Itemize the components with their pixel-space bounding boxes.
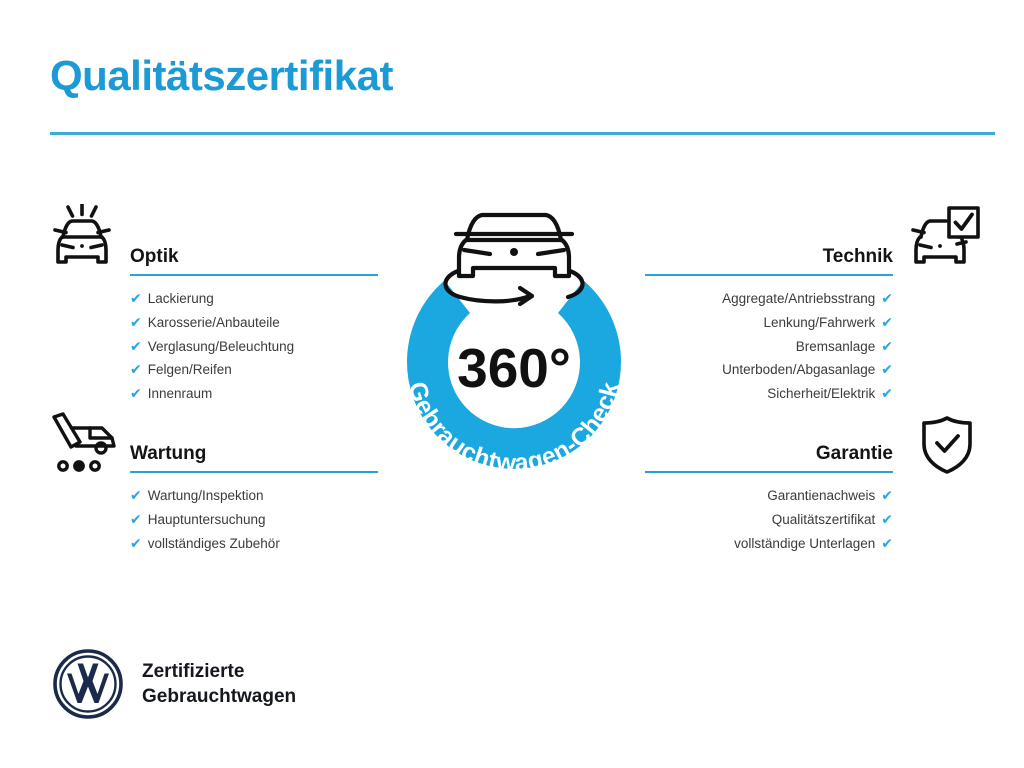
- check-icon: ✔: [130, 314, 142, 330]
- section-wartung-title: Wartung: [130, 443, 206, 465]
- list-item-label: Verglasung/Beleuchtung: [148, 339, 294, 354]
- check-icon: ✔: [130, 511, 142, 527]
- section-technik-title: Technik: [823, 246, 893, 268]
- section-optik-title: Optik: [130, 246, 179, 268]
- list-item: Lenkung/Fahrwerk✔: [645, 311, 893, 335]
- list-item-label: Hauptuntersuchung: [148, 512, 266, 527]
- certificate-page: Qualitätszertifikat Optik ✔Lack: [0, 0, 1024, 768]
- check-icon: ✔: [130, 385, 142, 401]
- list-item: Qualitätszertifikat✔: [645, 508, 893, 532]
- car-checkbox-icon: [908, 204, 982, 270]
- section-optik: Optik ✔Lackierung ✔Karosserie/Anbauteile…: [130, 232, 378, 406]
- list-item-label: vollständige Unterlagen: [734, 536, 875, 551]
- list-item: Sicherheit/Elektrik✔: [645, 382, 893, 406]
- section-optik-list: ✔Lackierung ✔Karosserie/Anbauteile ✔Verg…: [130, 287, 378, 406]
- section-technik-header: Technik: [645, 232, 893, 276]
- section-garantie-title: Garantie: [816, 443, 893, 465]
- check-icon: ✔: [881, 290, 893, 306]
- check-icon: ✔: [130, 487, 142, 503]
- check-icon: ✔: [881, 511, 893, 527]
- badge-360-gebrauchtwagen-check: Gebrauchtwagen-Check 360°: [372, 192, 656, 492]
- car-rotate-360-icon: [445, 215, 582, 304]
- header-divider: [50, 132, 995, 135]
- section-technik: Technik Aggregate/Antriebsstrang✔ Lenkun…: [645, 232, 893, 406]
- list-item-label: Lackierung: [148, 291, 214, 306]
- footer-line-1: Zertifizierte: [142, 659, 296, 684]
- list-item: Unterboden/Abgasanlage✔: [645, 358, 893, 382]
- list-item-label: Innenraum: [148, 386, 213, 401]
- list-item-label: Bremsanlage: [796, 339, 876, 354]
- check-icon: ✔: [881, 487, 893, 503]
- badge-center-label: 360°: [457, 337, 571, 399]
- check-icon: ✔: [130, 361, 142, 377]
- section-optik-underline: [130, 274, 378, 276]
- section-technik-list: Aggregate/Antriebsstrang✔ Lenkung/Fahrwe…: [645, 287, 893, 406]
- list-item-label: Aggregate/Antriebsstrang: [722, 291, 875, 306]
- list-item: ✔Karosserie/Anbauteile: [130, 311, 378, 335]
- list-item: vollständige Unterlagen✔: [645, 532, 893, 556]
- check-icon: ✔: [130, 290, 142, 306]
- list-item-label: Sicherheit/Elektrik: [767, 386, 875, 401]
- shield-check-icon: [916, 414, 978, 476]
- list-item: Bremsanlage✔: [645, 335, 893, 359]
- check-icon: ✔: [130, 338, 142, 354]
- list-item: ✔Felgen/Reifen: [130, 358, 378, 382]
- section-garantie: Garantie Garantienachweis✔ Qualitätszert…: [645, 429, 893, 555]
- section-garantie-underline: [645, 471, 893, 473]
- list-item-label: Lenkung/Fahrwerk: [763, 315, 875, 330]
- section-optik-header: Optik: [130, 232, 378, 276]
- check-icon: ✔: [130, 535, 142, 551]
- list-item-label: Wartung/Inspektion: [148, 488, 264, 503]
- list-item: ✔Verglasung/Beleuchtung: [130, 335, 378, 359]
- check-icon: ✔: [881, 338, 893, 354]
- section-wartung: Wartung ✔Wartung/Inspektion ✔Hauptunters…: [130, 429, 378, 555]
- list-item-label: Unterboden/Abgasanlage: [722, 362, 875, 377]
- list-item: ✔Wartung/Inspektion: [130, 484, 378, 508]
- check-icon: ✔: [881, 535, 893, 551]
- list-item: Garantienachweis✔: [645, 484, 893, 508]
- check-icon: ✔: [881, 314, 893, 330]
- list-item: ✔Hauptuntersuchung: [130, 508, 378, 532]
- list-item: ✔Innenraum: [130, 382, 378, 406]
- list-item: Aggregate/Antriebsstrang✔: [645, 287, 893, 311]
- check-icon: ✔: [881, 361, 893, 377]
- list-item-label: vollständiges Zubehör: [148, 536, 280, 551]
- list-item-label: Felgen/Reifen: [148, 362, 232, 377]
- pen-car-service-icon: [46, 412, 118, 474]
- section-wartung-underline: [130, 471, 378, 473]
- section-technik-underline: [645, 274, 893, 276]
- footer-text: Zertifizierte Gebrauchtwagen: [142, 659, 296, 709]
- page-title: Qualitätszertifikat: [50, 52, 393, 100]
- list-item-label: Karosserie/Anbauteile: [148, 315, 280, 330]
- section-garantie-list: Garantienachweis✔ Qualitätszertifikat✔ v…: [645, 484, 893, 555]
- footer-branding: Zertifizierte Gebrauchtwagen: [52, 648, 296, 720]
- list-item-label: Garantienachweis: [767, 488, 875, 503]
- volkswagen-logo: [52, 648, 124, 720]
- car-shine-icon: [46, 204, 118, 270]
- section-wartung-header: Wartung: [130, 429, 378, 473]
- section-wartung-list: ✔Wartung/Inspektion ✔Hauptuntersuchung ✔…: [130, 484, 378, 555]
- list-item-label: Qualitätszertifikat: [772, 512, 876, 527]
- section-garantie-header: Garantie: [645, 429, 893, 473]
- list-item: ✔Lackierung: [130, 287, 378, 311]
- check-icon: ✔: [881, 385, 893, 401]
- footer-line-2: Gebrauchtwagen: [142, 684, 296, 709]
- list-item: ✔vollständiges Zubehör: [130, 532, 378, 556]
